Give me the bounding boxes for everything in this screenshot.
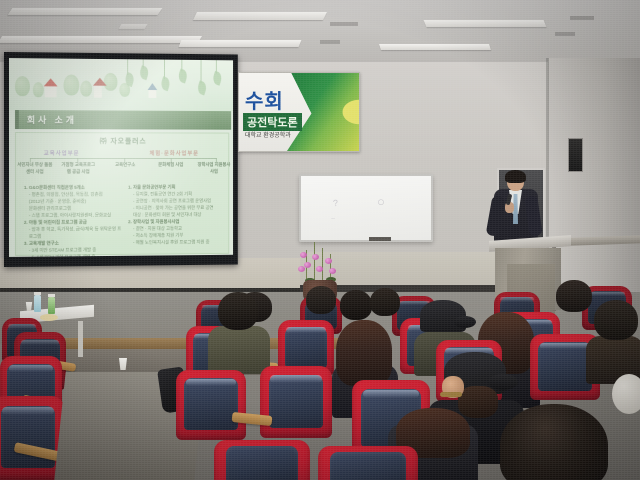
- seat: [260, 366, 332, 438]
- auditorium-photo: 회사 소개 ㈜ 자오플러스 교육사업부문 체험·문화사업부문 서민자녀 무상 돌…: [0, 0, 640, 480]
- org-box-4: 장학사업 지원봉사 사업: [196, 162, 232, 175]
- whiteboard-mark-1: ?: [332, 198, 338, 209]
- division-label-right: 체험·문화사업부문: [149, 149, 198, 157]
- org-box-3: 문화체험 사업: [152, 162, 189, 169]
- whiteboard-mark-2: ○: [377, 194, 385, 209]
- org-box-2: 교육연구소: [107, 162, 144, 169]
- slide-title: 회사 소개: [19, 113, 77, 126]
- presenter-hair: [505, 170, 526, 183]
- audience-person: [306, 286, 336, 322]
- audience-person: [370, 288, 400, 324]
- seat: [176, 370, 246, 440]
- slide-body: ㈜ 자오플러스 교육사업부문 체험·문화사업부문 서민자녀 무상 돌봄센터 사업…: [15, 132, 229, 256]
- banner-bottom-text: 대학교 환경공학과: [245, 130, 291, 139]
- seat: [0, 396, 64, 480]
- audience-person: [556, 280, 592, 320]
- audience-person: [500, 404, 608, 480]
- banner-top-text: 수회: [245, 85, 284, 114]
- slide-subtitle: ㈜ 자오플러스: [16, 136, 228, 146]
- bottle-cap: [34, 292, 41, 295]
- table-leg: [78, 321, 83, 357]
- division-label-left: 교육사업부문: [44, 149, 80, 157]
- projection-screen: 회사 소개 ㈜ 자오플러스 교육사업부문 체험·문화사업부문 서민자녀 무상 돌…: [4, 52, 238, 267]
- wall-speaker-icon: [568, 138, 583, 172]
- slide-right-column: 1. 자율 문화공연부문 기획 - 뮤지컬, 전통공연 연간 2회 기획 - 공…: [128, 184, 224, 246]
- org-box-1: 거점형 교육프로그램 공급 사업: [60, 162, 97, 175]
- bracelet: [440, 392, 462, 397]
- water-bottle: [34, 295, 41, 312]
- banner-mid-text: 공전탁도론: [243, 113, 302, 131]
- green-bottle: [48, 297, 55, 314]
- audience-person: [214, 292, 260, 364]
- whiteboard: ? ○ ~: [299, 174, 433, 242]
- slide-illustration-header: [9, 58, 233, 111]
- seat: [214, 440, 310, 480]
- slide-left-column: 1. G&O문화센터 직접운영 5개소 - 평촌점, 의왕점, 안산점, 목동점…: [24, 185, 122, 257]
- org-box-0: 서민자녀 무상 돌봄센터 사업: [16, 162, 54, 175]
- wall-banner: 수회 공전탁도론 대학교 환경공학과: [238, 72, 360, 152]
- audience-person: [592, 300, 640, 364]
- banner-swoosh-logo: [287, 73, 359, 151]
- whiteboard-tray: [369, 237, 391, 241]
- bottle-cap: [48, 294, 55, 297]
- white-object: [612, 374, 640, 414]
- seat: [318, 446, 418, 480]
- snack-plate: [40, 314, 58, 321]
- projected-slide: 회사 소개 ㈜ 자오플러스 교육사업부문 체험·문화사업부문 서민자녀 무상 돌…: [9, 58, 233, 257]
- slide-title-bar: 회사 소개: [15, 110, 231, 130]
